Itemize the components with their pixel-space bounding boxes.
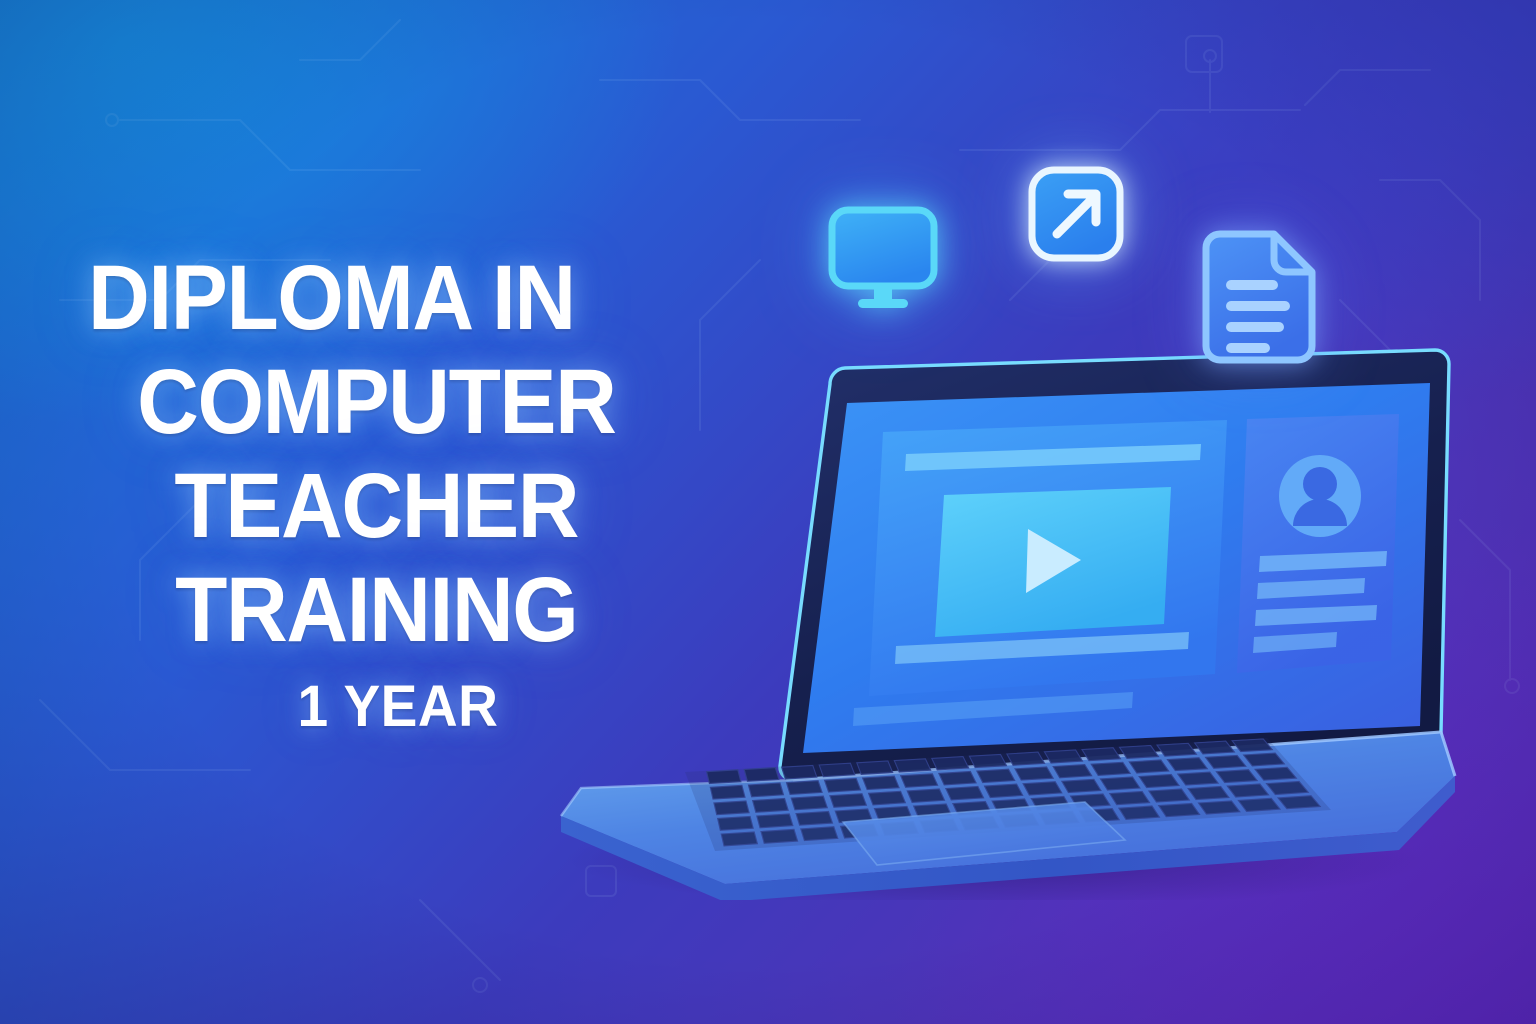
headline-line-3: TEACHER — [88, 454, 665, 558]
headline-line-4: TRAINING — [88, 558, 665, 662]
avatar-icon — [1279, 455, 1361, 537]
keyboard-key — [1062, 779, 1101, 792]
keyboard-key — [714, 801, 749, 815]
keyboard-key — [1053, 765, 1092, 778]
keyboard-key — [857, 761, 893, 774]
headline-line-1: DIPLOMA IN — [88, 246, 665, 350]
keyboard-key — [1119, 806, 1160, 819]
headline-line-2: COMPUTER — [88, 350, 665, 454]
keyboard-key — [819, 763, 855, 777]
keyboard-key — [869, 791, 906, 805]
keyboard-key — [744, 768, 779, 782]
keyboard-key — [721, 832, 757, 846]
keyboard-key — [801, 827, 838, 841]
monitor-icon — [822, 196, 944, 318]
keyboard-key — [1139, 775, 1179, 788]
keyboard-key — [1188, 787, 1229, 800]
keyboard-key — [1199, 801, 1240, 814]
keyboard-key — [939, 772, 976, 785]
keyboard-key — [894, 759, 930, 772]
keyboard-key — [1091, 762, 1130, 775]
keyboard-key — [1044, 750, 1082, 763]
keyboard-key — [977, 769, 1015, 782]
profile-panel — [1237, 414, 1399, 673]
keyboard-key — [791, 796, 827, 810]
keyboard-key — [969, 754, 1006, 767]
keyboard-key — [1129, 760, 1168, 773]
keyboard-key — [825, 778, 861, 792]
keyboard-key — [710, 785, 745, 799]
keyboard-key — [863, 776, 900, 790]
keyboard-key — [753, 799, 789, 813]
keyboard-key — [757, 814, 793, 828]
keyboard-key — [830, 794, 867, 808]
document-icon — [1192, 226, 1322, 368]
keyboard-key — [985, 784, 1023, 797]
keyboard-key — [1023, 782, 1062, 795]
keyboard-key — [748, 783, 783, 797]
keyboard-key — [1015, 767, 1053, 780]
keyboard-key — [907, 789, 944, 803]
keyboard-key — [1082, 748, 1121, 761]
video-panel — [869, 420, 1227, 696]
keyboard-key — [946, 787, 984, 800]
keyboard-key — [796, 811, 833, 825]
poster-canvas: DIPLOMA IN COMPUTER TEACHER TRAINING 1 Y… — [0, 0, 1536, 1024]
headline-block: DIPLOMA IN COMPUTER TEACHER TRAINING 1 Y… — [88, 246, 708, 738]
keyboard-key — [1120, 746, 1159, 759]
keyboard-key — [932, 757, 969, 770]
keyboard-key — [1159, 804, 1200, 817]
launch-arrow-icon — [1022, 162, 1130, 270]
keyboard-key — [901, 774, 938, 788]
laptop-lid — [780, 350, 1449, 780]
keyboard-key — [1100, 777, 1140, 790]
keyboard-key — [707, 770, 741, 784]
keyboard-key — [1110, 792, 1150, 805]
keyboard-key — [1007, 752, 1045, 765]
keyboard-key — [718, 816, 754, 830]
keyboard-key — [782, 765, 817, 779]
keyboard-key — [1149, 789, 1189, 802]
duration-label: 1 YEAR — [104, 676, 693, 738]
keyboard-key — [787, 781, 823, 795]
keyboard-key — [761, 829, 798, 843]
